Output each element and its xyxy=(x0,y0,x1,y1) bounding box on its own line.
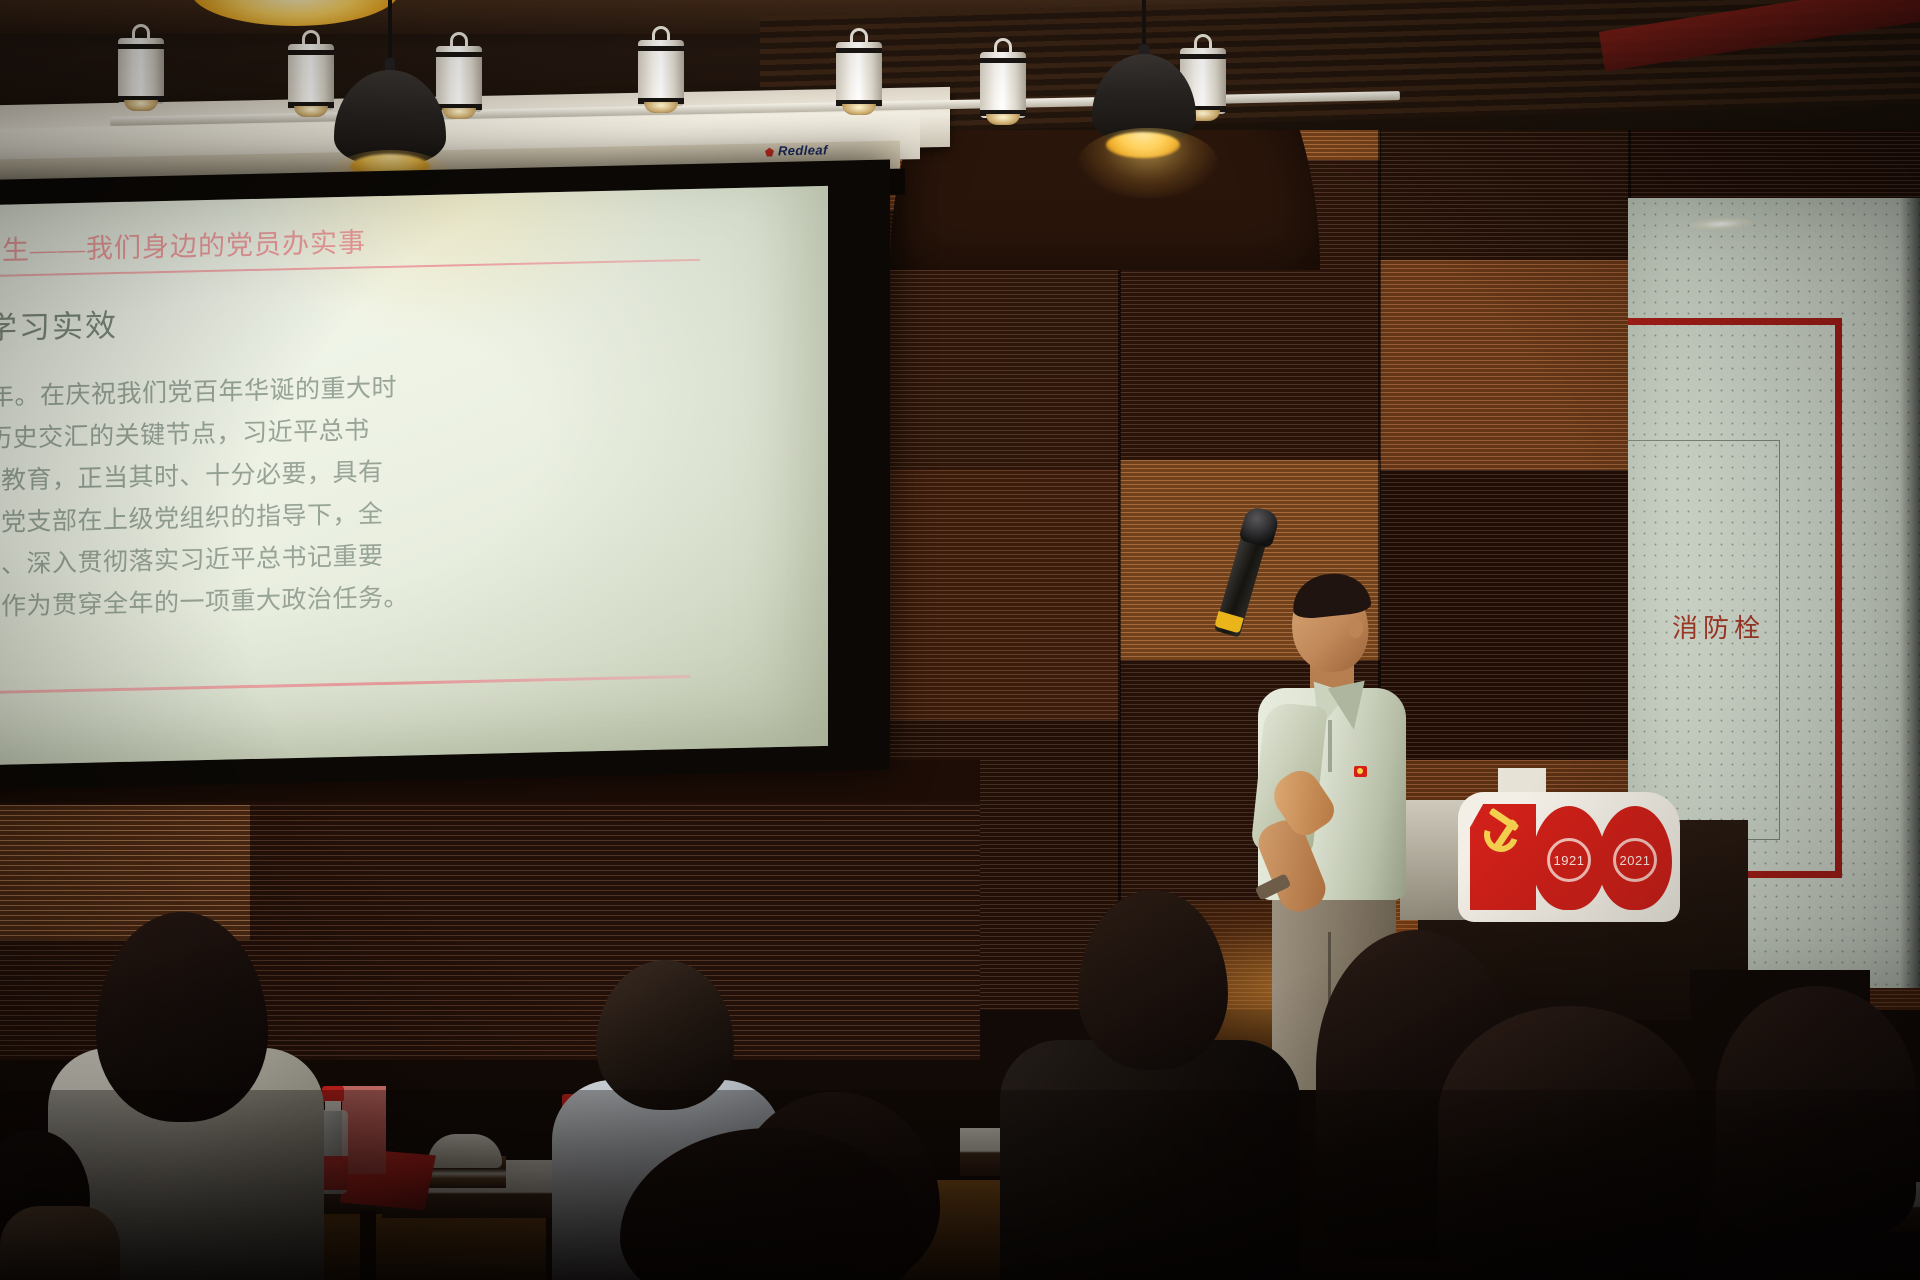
projection-screen: 谋，服务师生——我们身边的党员办实事 增强学习实效 党成立100周年。在庆祝我们… xyxy=(0,186,828,766)
emblem-year-1921: 1921 xyxy=(1547,838,1591,882)
hammer-and-sickle-icon xyxy=(1482,812,1534,860)
slide-body: 党成立100周年。在庆祝我们党百年华诞的重大时 年”奋斗目标历史交汇的关键节点，… xyxy=(0,358,808,632)
party-pin-badge xyxy=(1354,766,1367,777)
panel-edge-shadow xyxy=(1900,198,1920,988)
white-cap xyxy=(428,1134,502,1168)
audience-member xyxy=(1706,986,1920,1280)
fire-hydrant-label: 消防栓 xyxy=(1672,608,1765,645)
red-folder xyxy=(342,1086,386,1174)
audience-member xyxy=(560,1128,980,1280)
redleaf-leaf-icon xyxy=(765,147,774,156)
redleaf-brand-text: Redleaf xyxy=(778,142,828,158)
audience-member xyxy=(1422,1006,1722,1280)
slide-bottom-rule xyxy=(0,675,690,697)
audience-member xyxy=(0,1130,120,1280)
emblem-year-2021: 2021 xyxy=(1613,838,1657,882)
microphone-tip xyxy=(1214,611,1243,634)
audience-member xyxy=(1000,890,1300,1280)
redleaf-brand: Redleaf xyxy=(765,142,828,158)
party-centenary-emblem: 1921 2021 xyxy=(1458,792,1680,922)
slide-section-title: 增强学习实效 xyxy=(0,300,118,349)
slide-header-text: 谋，服务师生——我们身边的党员办实事 xyxy=(0,210,828,271)
auditorium-scene: 消防栓 Redleaf xyxy=(0,0,1920,1280)
